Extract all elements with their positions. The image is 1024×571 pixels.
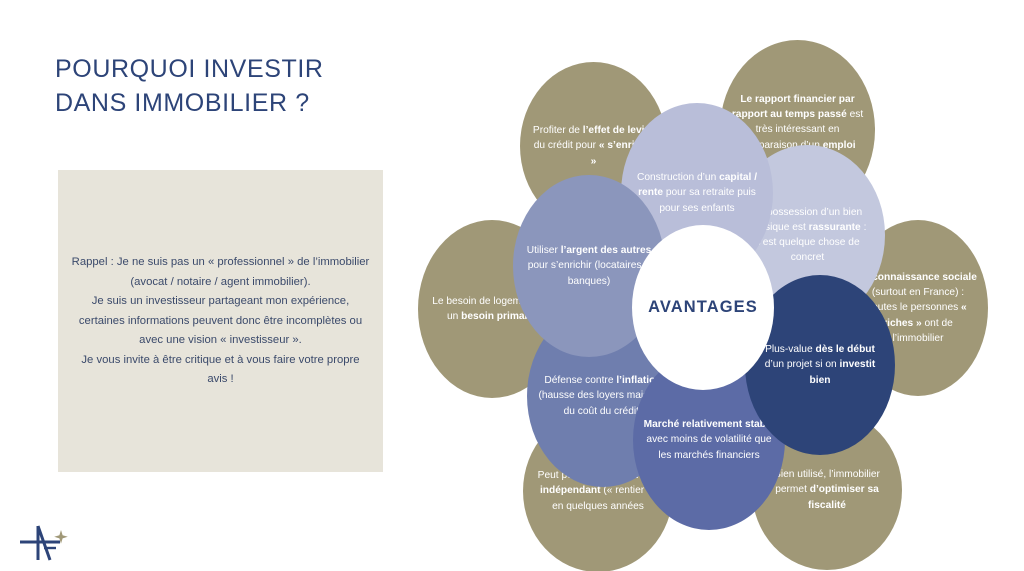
page-title: POURQUOI INVESTIR DANS IMMOBILIER ? <box>55 52 455 120</box>
diagram-center: AVANTAGES <box>632 225 774 390</box>
petal-label: Marché relativement stable avec moins de… <box>643 417 775 463</box>
logo-mark-icon <box>16 518 80 564</box>
monogram-logo <box>16 518 80 564</box>
avantages-flower-diagram: Profiter de l’effet de levier du crédit … <box>400 20 1024 550</box>
petal-label: Bien utilisé, l’immobilier permet d’opti… <box>762 467 892 513</box>
reminder-text: Rappel : Je ne suis pas un « professionn… <box>70 253 371 390</box>
slide-canvas: POURQUOI INVESTIR DANS IMMOBILIER ? Rapp… <box>0 0 1024 571</box>
center-label: AVANTAGES <box>648 298 758 317</box>
petal-label: Construction d’un capital / rente pour s… <box>631 170 763 216</box>
petal-label: Plus-value dès le début d’un projet si o… <box>755 342 885 388</box>
reminder-box: Rappel : Je ne suis pas un « professionn… <box>58 170 383 472</box>
